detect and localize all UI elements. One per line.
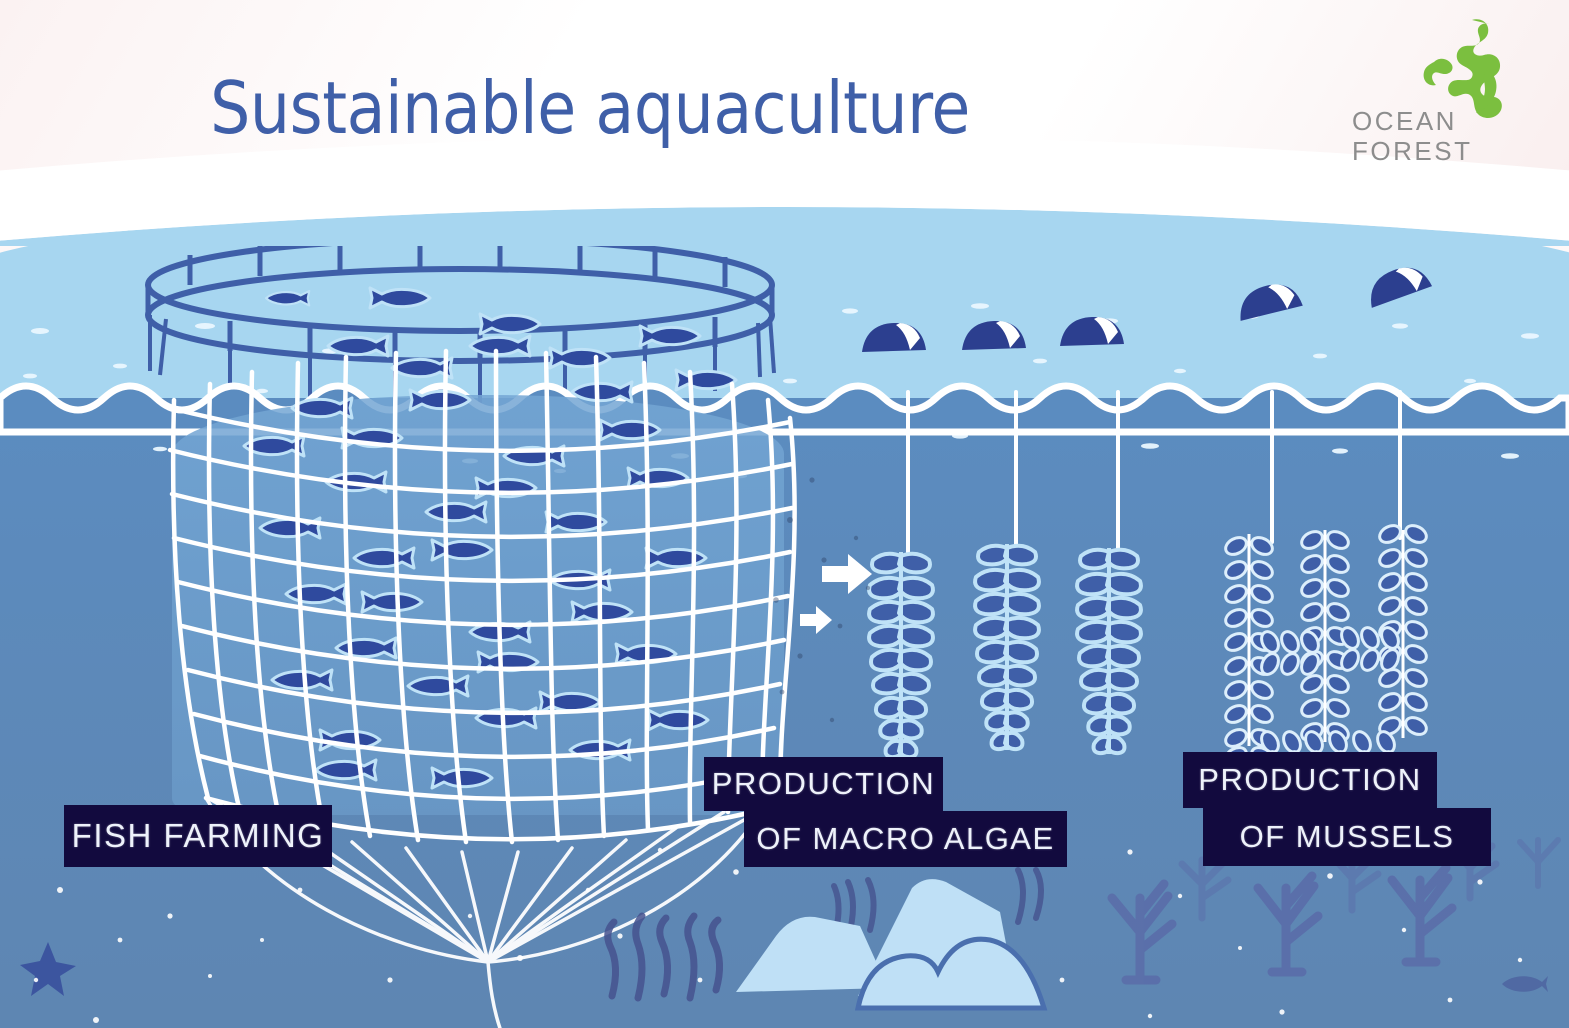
infographic-canvas: FISH FARMING PRODUCTION OF MACRO ALGAE P… <box>0 0 1569 1028</box>
label-macro-algae-line1: PRODUCTION <box>704 757 943 811</box>
sea-horizon-curve <box>0 176 1569 246</box>
seaweed-logo-icon <box>1414 18 1510 118</box>
label-mussels-line1: PRODUCTION <box>1183 752 1437 808</box>
water-particles <box>0 420 1569 1028</box>
surface-buoys <box>860 290 1460 380</box>
page-title: Sustainable aquaculture <box>71 66 1109 150</box>
logo-line-forest: FOREST <box>1352 136 1502 166</box>
label-mussels-line2: OF MUSSELS <box>1203 808 1491 866</box>
logo-line-ocean: OCEAN <box>1352 106 1502 136</box>
ocean-forest-logo: OCEAN FOREST <box>1352 18 1522 178</box>
label-fish-farming: FISH FARMING <box>64 805 332 867</box>
label-macro-algae-line2: OF MACRO ALGAE <box>744 811 1067 867</box>
logo-wordmark: OCEAN FOREST <box>1352 106 1502 166</box>
